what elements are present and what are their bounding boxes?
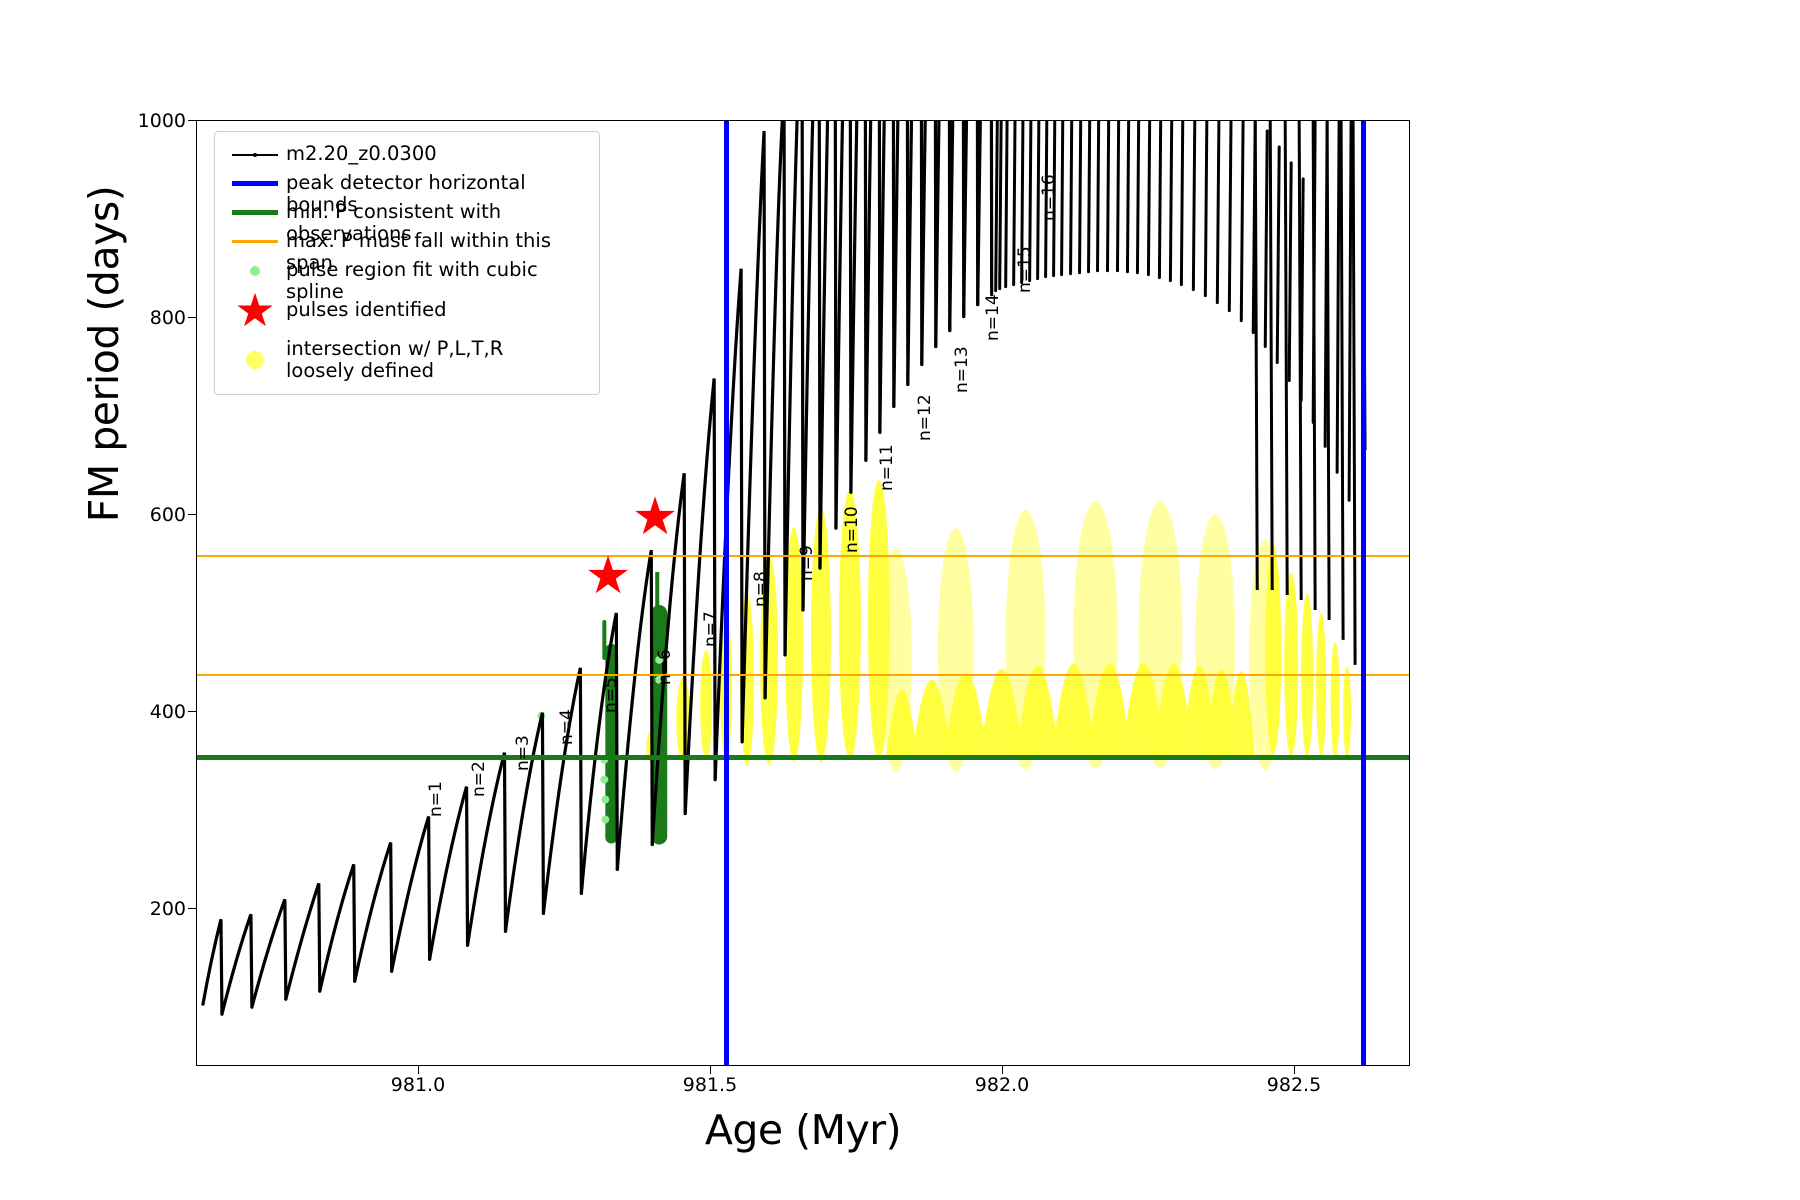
pulse-label-n15: n=15 — [1015, 246, 1035, 293]
legend: m2.20_z0.0300 peak detector horizontal b… — [214, 131, 600, 395]
figure-canvas: FM period (days) Age (Myr) 1000 800 600 … — [0, 0, 1800, 1200]
x-tick-label-981-5: 981.5 — [650, 1074, 770, 1096]
green-dot-icon — [224, 256, 286, 285]
peak-detector-left-bound — [724, 121, 729, 1065]
pulse-label-n16: n=16 — [1039, 174, 1059, 221]
legend-label-intersection: intersection w/ P,L,T,R loosely defined — [286, 338, 503, 382]
pulse-label-n9: n=9 — [797, 545, 817, 581]
x-tick-mark-981-0 — [418, 1066, 419, 1074]
legend-entry-spline: pulse region fit with cubic spline — [224, 256, 590, 285]
x-tick-mark-982-5 — [1294, 1066, 1295, 1074]
x-tick-label-982-0: 982.0 — [942, 1074, 1062, 1096]
y-tick-label-600: 600 — [66, 504, 186, 526]
legend-label-pulses: pulses identified — [286, 299, 447, 321]
black-line-marker-icon — [224, 140, 286, 169]
pulse-label-n10: n=10 — [842, 506, 862, 553]
y-tick-mark-1000 — [188, 120, 196, 121]
pulse-label-n14: n=14 — [983, 294, 1003, 341]
legend-entry-model: m2.20_z0.0300 — [224, 140, 590, 169]
x-tick-label-981-0: 981.0 — [358, 1074, 478, 1096]
legend-entry-peak-detector: peak detector horizontal bounds — [224, 169, 590, 198]
legend-label-model: m2.20_z0.0300 — [286, 140, 437, 165]
green-line-icon — [224, 198, 286, 227]
pulse-label-n4: n=4 — [557, 709, 577, 745]
pulse-label-n5: n=5 — [601, 677, 621, 713]
pulse-label-n8: n=8 — [751, 571, 771, 607]
x-tick-mark-981-5 — [710, 1066, 711, 1074]
y-tick-mark-800 — [188, 317, 196, 318]
pulse-label-n11: n=11 — [877, 444, 897, 491]
pulse-label-n2: n=2 — [469, 761, 489, 797]
yellow-dot-icon — [224, 335, 286, 385]
pulse-label-n7: n=7 — [701, 611, 721, 647]
pulse-label-n12: n=12 — [915, 394, 935, 441]
y-tick-mark-400 — [188, 711, 196, 712]
legend-entry-intersection: intersection w/ P,L,T,R loosely defined — [224, 335, 590, 385]
y-tick-label-200: 200 — [66, 898, 186, 920]
pulse-label-n3: n=3 — [513, 735, 533, 771]
pulse-label-n13: n=13 — [952, 346, 972, 393]
peak-detector-right-bound — [1361, 121, 1366, 1065]
legend-entry-min-p: min. P consistent with observations — [224, 198, 590, 227]
y-tick-label-1000: 1000 — [66, 110, 186, 132]
yellow-intersection-cloud — [646, 480, 1351, 765]
x-tick-mark-982-0 — [1002, 1066, 1003, 1074]
orange-line-icon — [224, 227, 286, 256]
y-tick-label-400: 400 — [66, 701, 186, 723]
max-p-lower-bound-line — [197, 674, 1409, 676]
legend-label-spline: pulse region fit with cubic spline — [286, 256, 590, 303]
pulse-label-n1: n=1 — [426, 781, 446, 817]
red-star-icon: ★ — [224, 285, 286, 335]
min-p-observations-line — [197, 755, 1409, 760]
pulse-label-n6: n=6 — [655, 649, 675, 685]
legend-entry-max-p: max. P must fall within this span — [224, 227, 590, 256]
y-tick-mark-200 — [188, 908, 196, 909]
y-tick-mark-600 — [188, 514, 196, 515]
x-tick-label-982-5: 982.5 — [1234, 1074, 1354, 1096]
y-axis-label: FM period (days) — [80, 74, 128, 634]
y-tick-label-800: 800 — [66, 307, 186, 329]
x-axis-label: Age (Myr) — [196, 1106, 1410, 1154]
blue-line-icon — [224, 169, 286, 198]
